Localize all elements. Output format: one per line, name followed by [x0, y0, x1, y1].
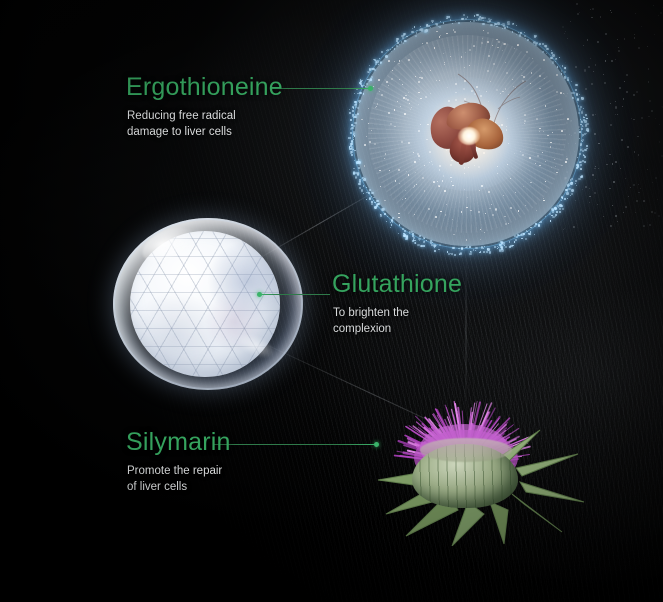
infographic-canvas: Ergothioneine Reducing free radical dama… [0, 0, 663, 602]
vignette-overlay [0, 0, 663, 602]
